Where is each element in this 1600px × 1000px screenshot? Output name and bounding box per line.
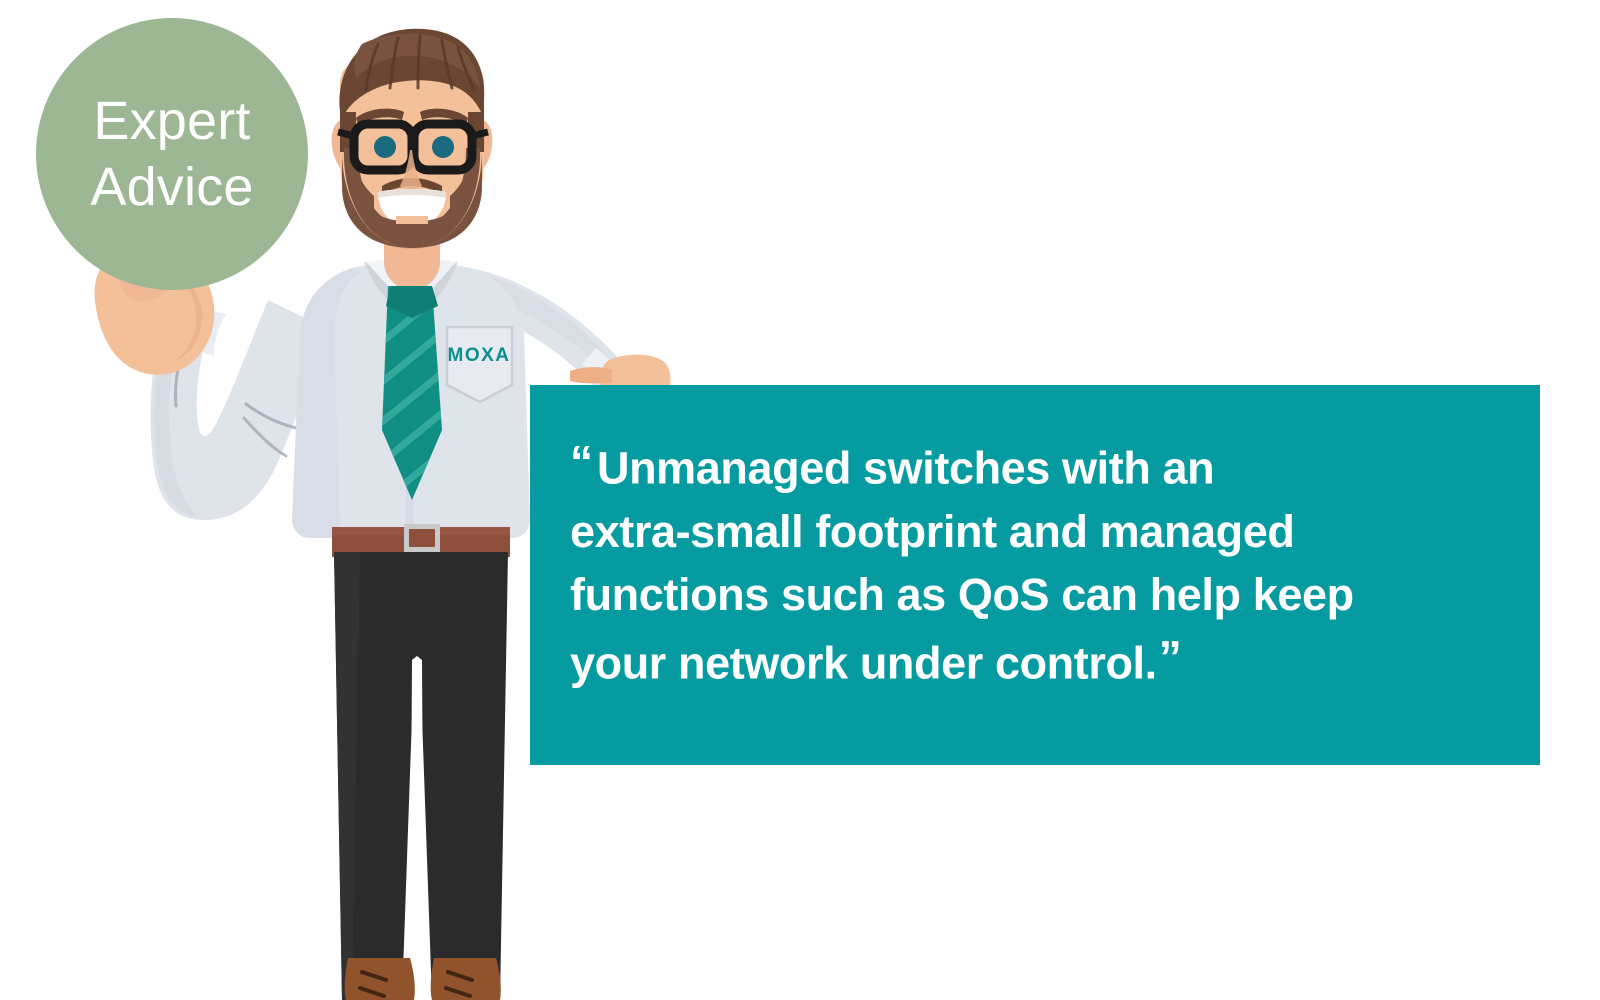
moxa-logo-text: MOXA [448, 345, 511, 366]
quote-line-3: functions such as QoS can help keep [570, 569, 1354, 620]
close-quote-mark: ” [1159, 631, 1182, 683]
quote-line-4: your network under control. [570, 637, 1157, 688]
left-eye [374, 136, 396, 158]
quote-line-1: Unmanaged switches with an [597, 443, 1214, 494]
shirt-pocket: MOXA [447, 327, 512, 402]
quote-content: “Unmanaged switches with anextra-small f… [530, 385, 1540, 765]
head [332, 29, 493, 248]
trousers [334, 552, 508, 1000]
right-eye [432, 136, 454, 158]
quote-line-2: extra-small footprint and managed [570, 506, 1294, 557]
expert-advice-badge [36, 18, 308, 290]
poster-canvas: MOXA [0, 0, 1600, 1000]
quote-text: “Unmanaged switches with anextra-small f… [570, 431, 1480, 694]
open-quote-mark: “ [570, 436, 593, 488]
